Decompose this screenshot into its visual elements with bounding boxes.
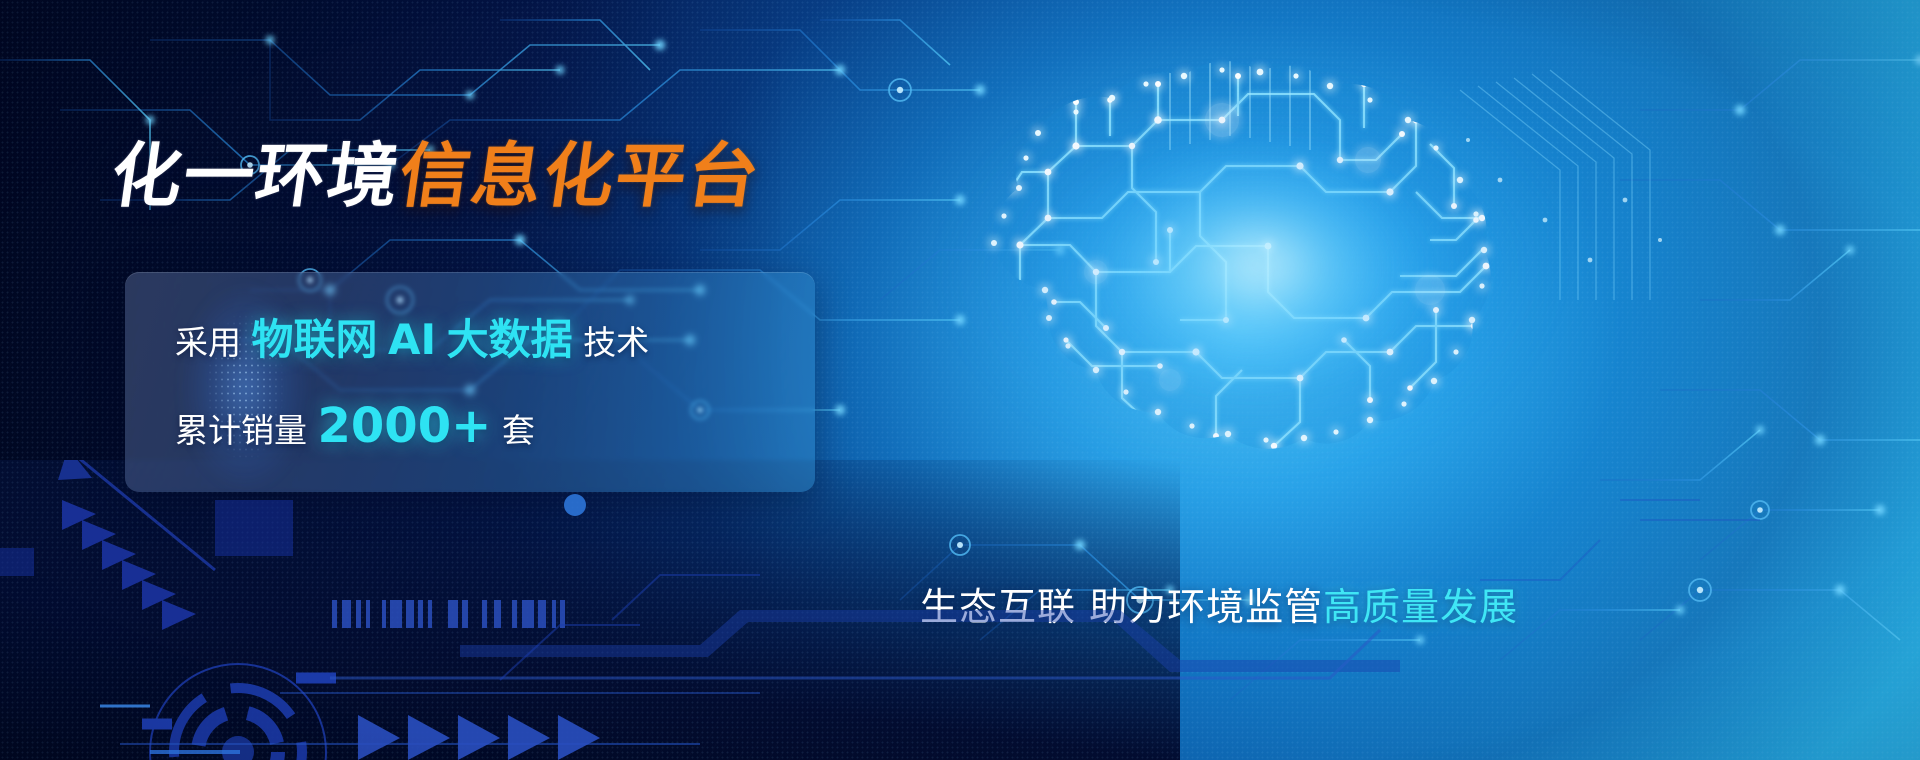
vignette-overlay — [0, 0, 1920, 760]
banner-root: 化一环境信息化平台 采用 物联网 AI 大数据 技术 累计销量 2000+ 套 … — [0, 0, 1920, 760]
